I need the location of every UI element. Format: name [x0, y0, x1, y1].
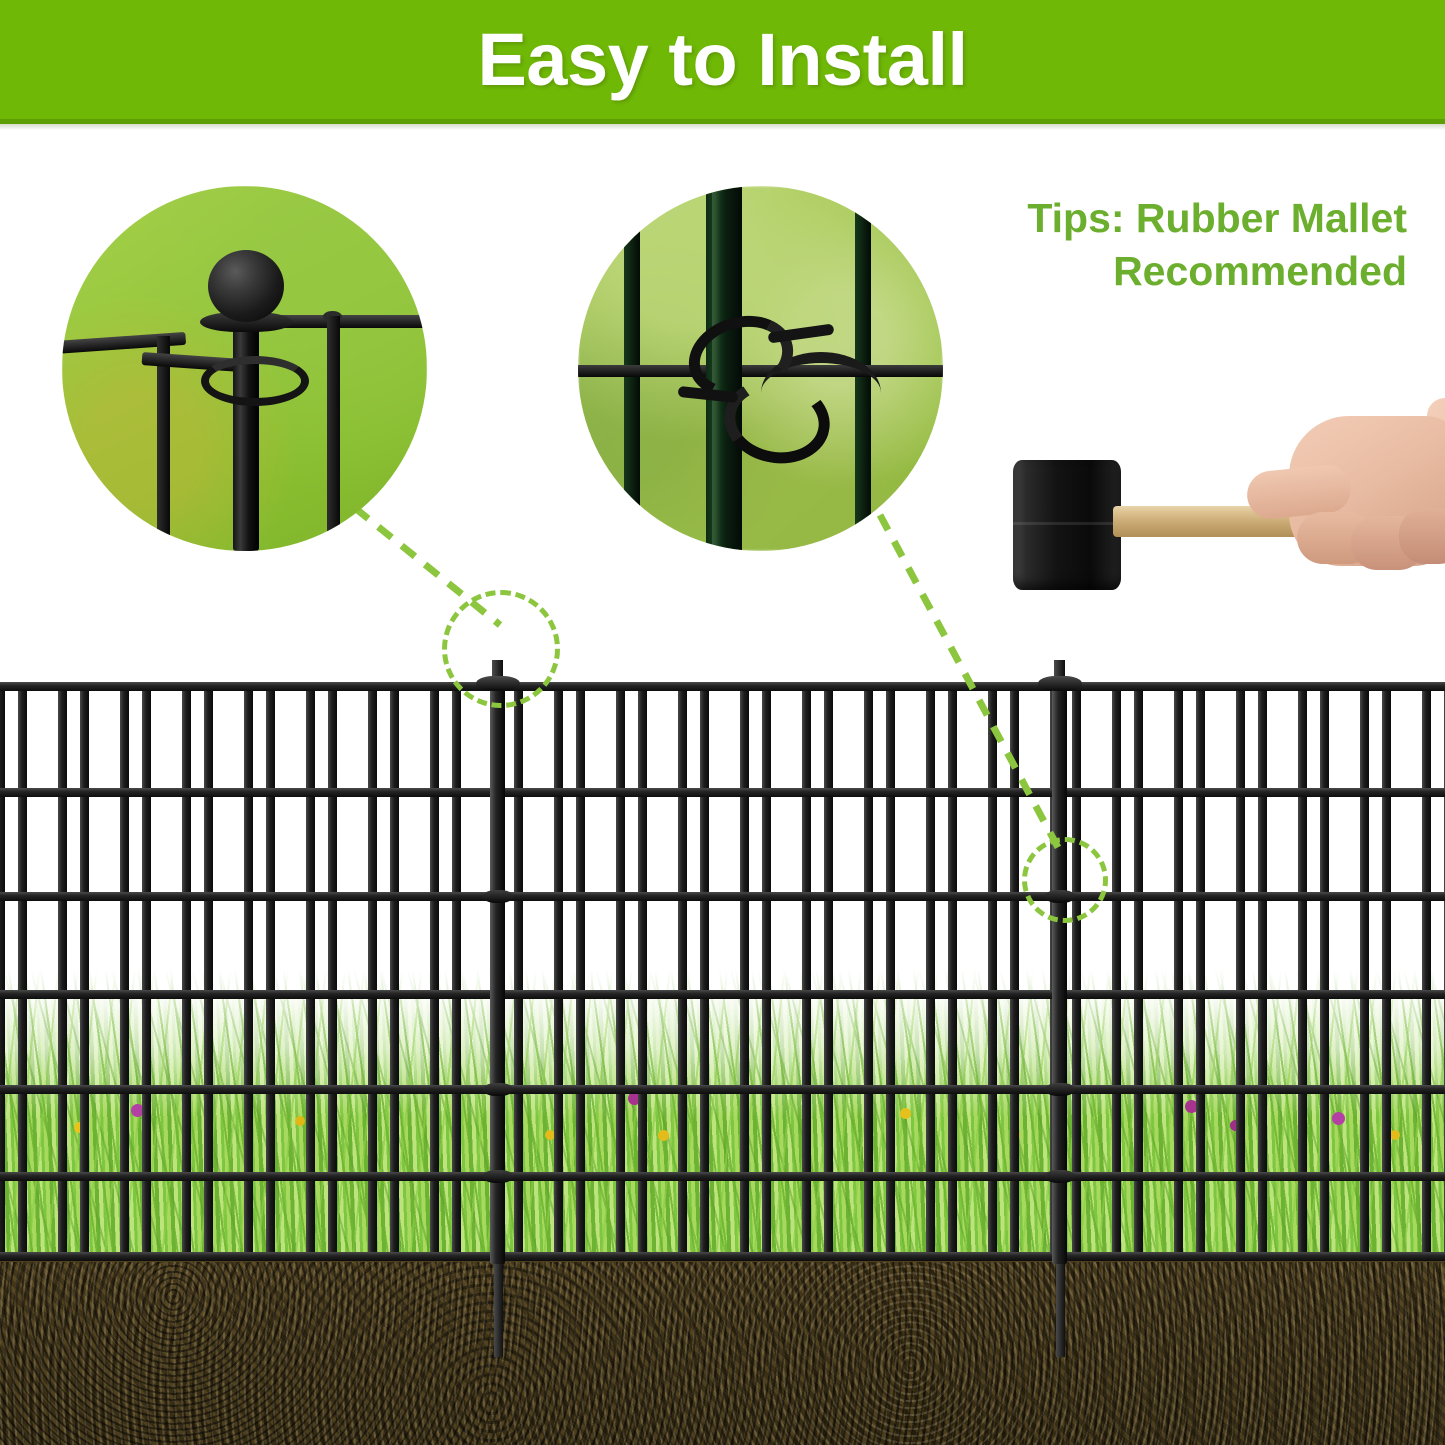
post-hook-joint: [483, 890, 513, 903]
marker-finial: [442, 590, 560, 708]
fence-rail: [0, 1252, 1445, 1261]
post-cap: [1038, 676, 1082, 691]
post-hook-joint: [483, 1170, 513, 1183]
tips-line-2: Recommended: [937, 245, 1407, 298]
fence-bar: [327, 316, 340, 542]
fence-rail: [0, 1085, 1445, 1094]
hand-illustration: [1241, 420, 1445, 600]
post-hook-joint: [1045, 1083, 1075, 1096]
infographic-canvas: Easy to Install Tips: Rubber Mallet Reco…: [0, 0, 1445, 1445]
marker-hook: [1022, 837, 1108, 923]
post-hook-joint: [483, 1083, 513, 1096]
fence-rail: [0, 682, 1445, 691]
tips-line-1: Tips: Rubber Mallet: [1027, 195, 1407, 241]
fence-structure: [0, 660, 1445, 1445]
mallet-head: [1013, 460, 1121, 590]
fence-rail: [0, 990, 1445, 999]
fence-post: [233, 310, 259, 551]
fence-rail: [0, 1172, 1445, 1181]
header-banner: Easy to Install: [0, 0, 1445, 123]
finger: [1399, 508, 1445, 564]
page-title: Easy to Install: [477, 23, 967, 97]
tips-text: Tips: Rubber Mallet Recommended: [937, 192, 1407, 299]
fence-rail: [0, 892, 1445, 901]
ring-clamp-icon: [201, 356, 309, 406]
rubber-mallet-illustration: [995, 438, 1445, 623]
fence-rail: [0, 788, 1445, 797]
post-hook-joint: [1045, 1170, 1075, 1183]
mallet-head-seam: [1013, 522, 1121, 525]
banner-shadow: [0, 124, 1445, 130]
callout-post-finial-detail: [62, 186, 427, 551]
fence-bar: [157, 336, 170, 551]
fence-scene: [0, 660, 1445, 1445]
ball-finial: [208, 250, 284, 322]
callout-s-hook-detail: [578, 186, 943, 551]
